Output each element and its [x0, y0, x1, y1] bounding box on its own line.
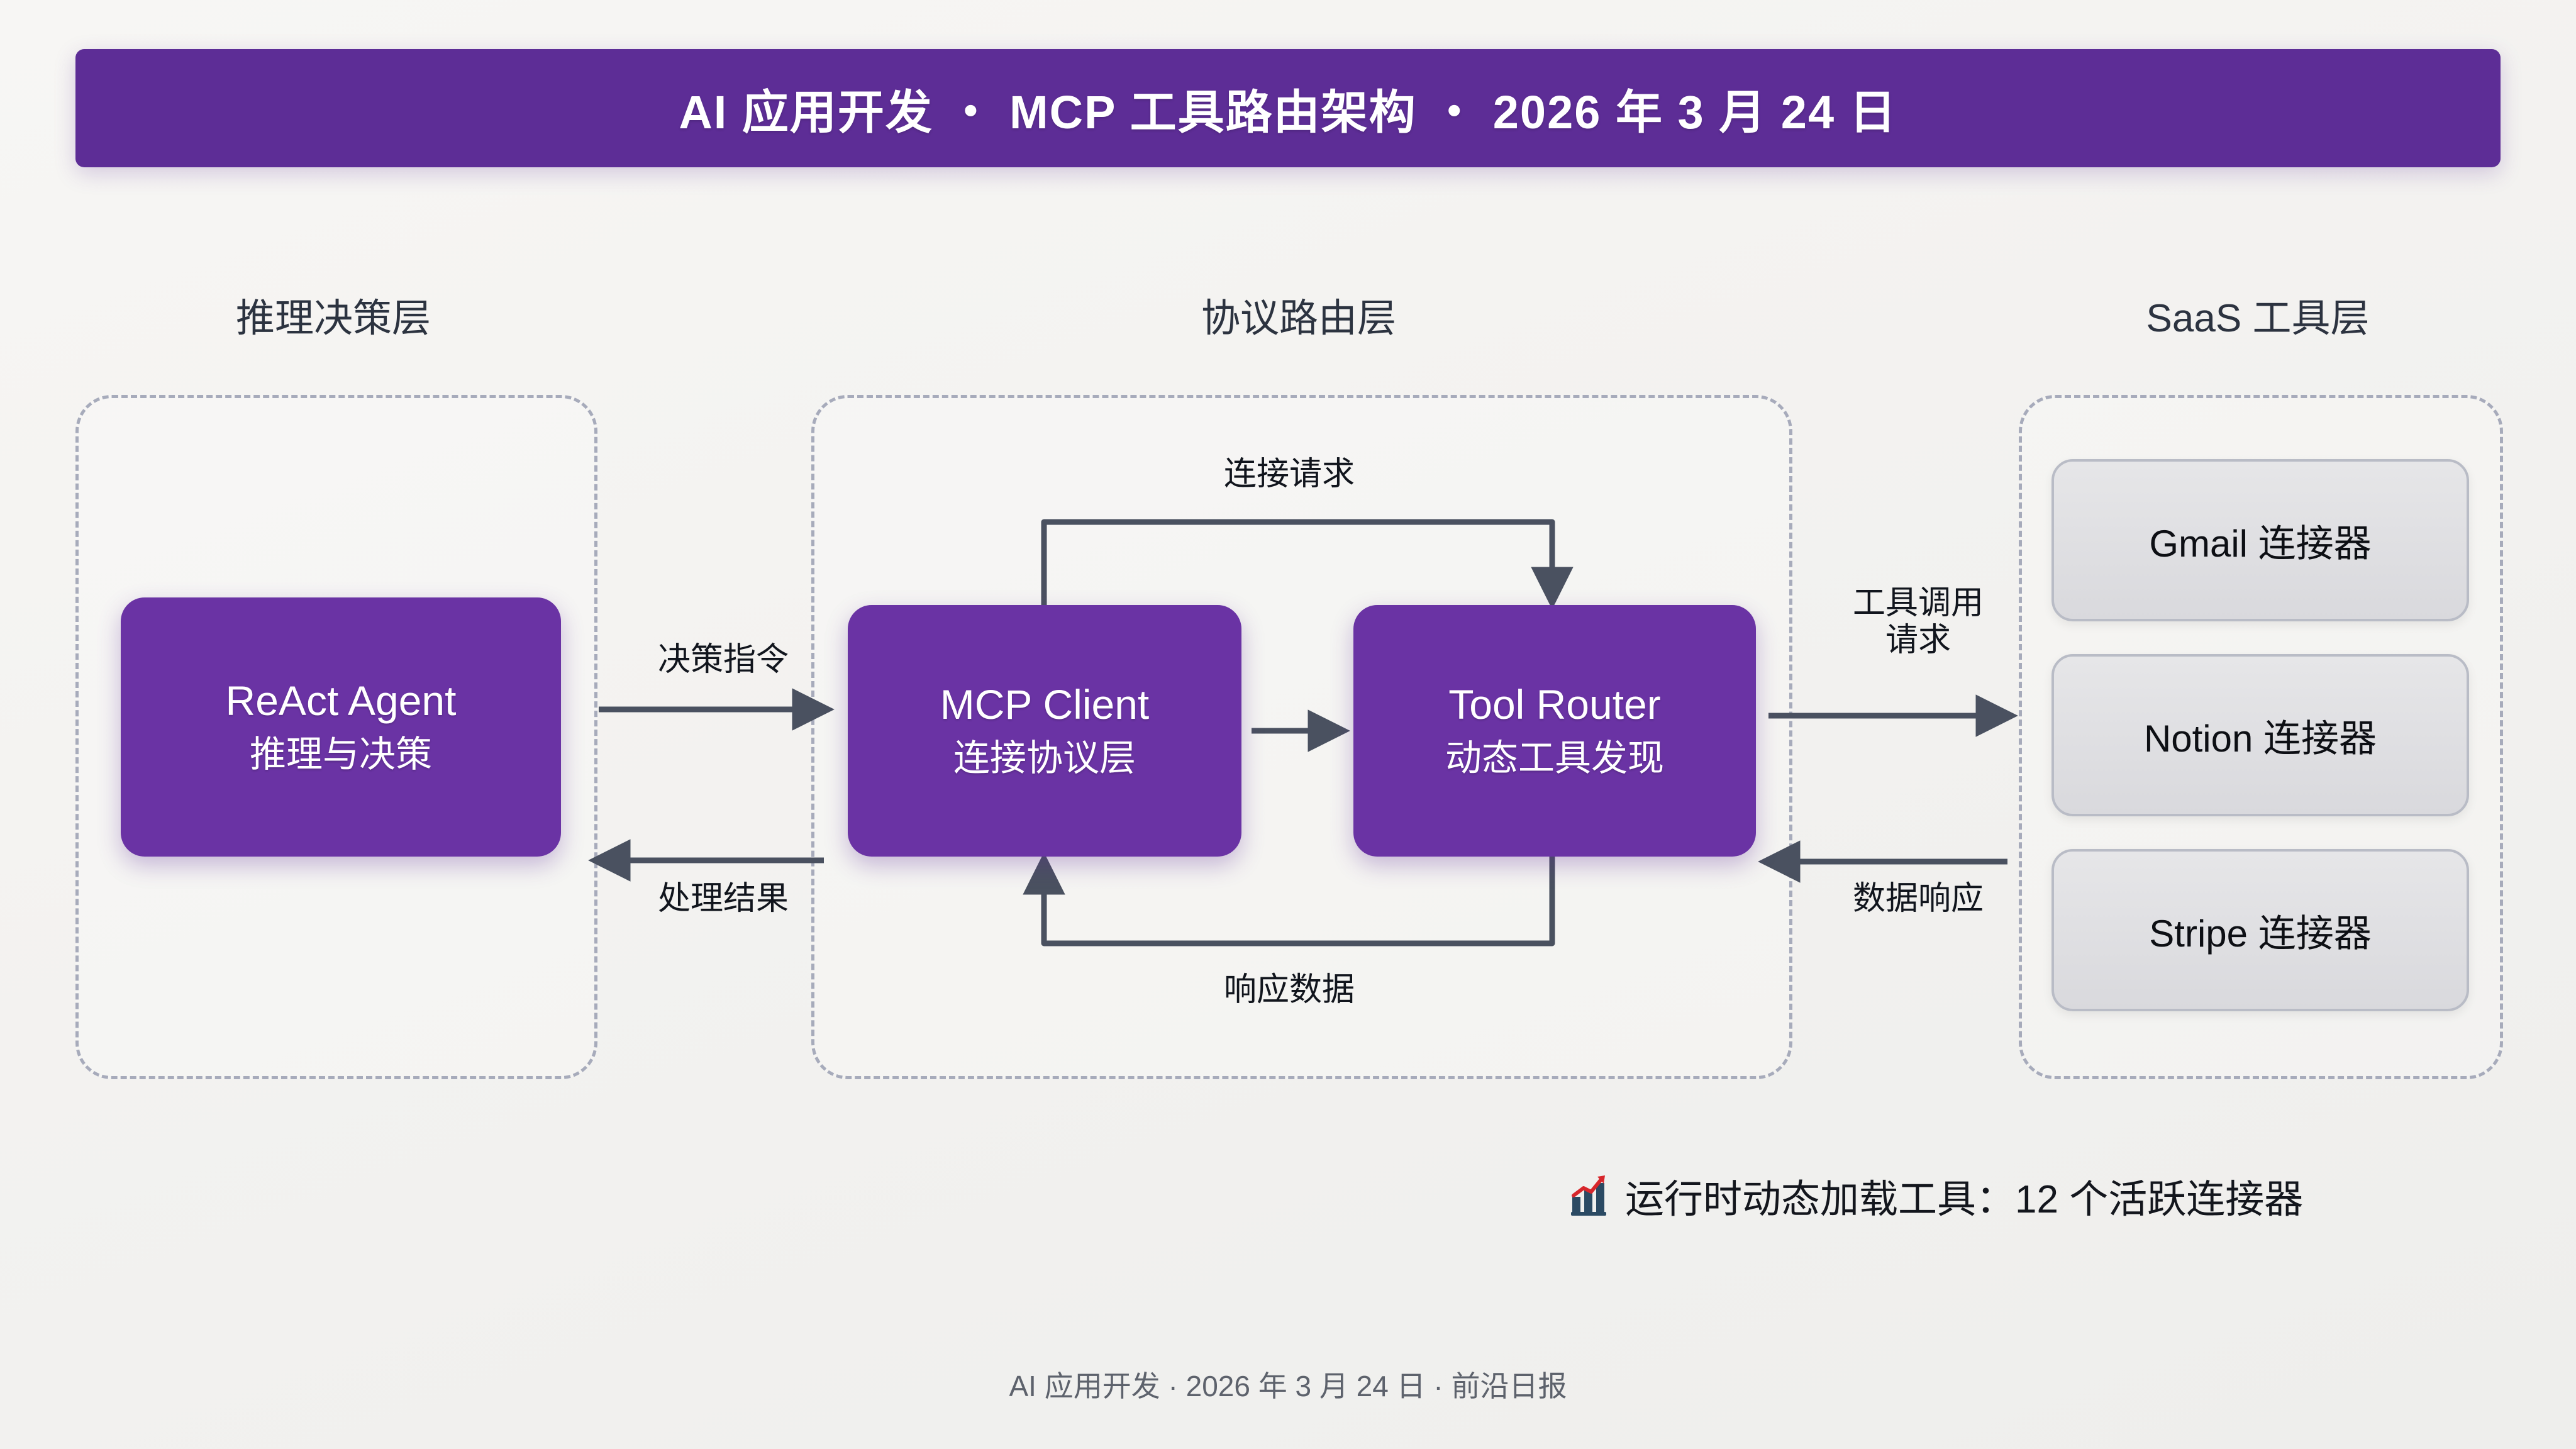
layer-caption-protocol: 协议路由层 — [811, 286, 1786, 343]
connector-card-notion[interactable]: Notion 连接器 — [2051, 654, 2469, 816]
edge-label-process-result: 处理结果 — [591, 880, 855, 918]
edge-label-data-response: 数据响应 — [1792, 880, 2044, 918]
node-mcp-client[interactable]: MCP Client 连接协议层 — [848, 605, 1241, 857]
layer-caption-reasoning: 推理决策层 — [75, 286, 591, 343]
page-title: AI 应用开发 ・ MCP 工具路由架构 ・ 2026 年 3 月 24 日 — [679, 75, 1897, 142]
edge-label-tool-call-request-line1: 工具调用 — [1792, 585, 2044, 622]
edge-label-tool-call-request-line2: 请求 — [1792, 622, 2044, 659]
footer: AI 应用开发 · 2026 年 3 月 24 日 · 前沿日报 — [0, 1363, 2576, 1405]
edge-label-tool-call-request: 工具调用 请求 — [1792, 585, 2044, 660]
connector-card-gmail-label: Gmail 连接器 — [2149, 513, 2371, 568]
node-mcp-client-title: MCP Client — [940, 682, 1150, 728]
status-text: 运行时动态加载工具：12 个活跃连接器 — [1625, 1167, 2303, 1224]
node-tool-router-subtitle: 动态工具发现 — [1445, 737, 1664, 780]
footer-text: AI 应用开发 · 2026 年 3 月 24 日 · 前沿日报 — [1009, 1370, 1567, 1402]
title-banner: AI 应用开发 ・ MCP 工具路由架构 ・ 2026 年 3 月 24 日 — [75, 49, 2501, 167]
node-mcp-client-subtitle: 连接协议层 — [953, 737, 1136, 780]
node-react-agent-subtitle: 推理与决策 — [250, 733, 432, 776]
connector-card-stripe[interactable]: Stripe 连接器 — [2051, 849, 2469, 1011]
node-react-agent-title: ReAct Agent — [226, 678, 457, 724]
bar-chart-icon — [1566, 1173, 1611, 1218]
layer-caption-saas: SaaS 工具层 — [2019, 286, 2497, 343]
edge-label-decision-command: 决策指令 — [591, 641, 855, 679]
edge-label-connect-request: 连接请求 — [1063, 456, 1516, 493]
status-line: 运行时动态加载工具：12 个活跃连接器 — [1566, 1167, 2303, 1224]
node-tool-router[interactable]: Tool Router 动态工具发现 — [1353, 605, 1756, 857]
node-tool-router-title: Tool Router — [1448, 682, 1661, 728]
slide-canvas: AI 应用开发 ・ MCP 工具路由架构 ・ 2026 年 3 月 24 日 推… — [0, 0, 2576, 1449]
connector-card-notion-label: Notion 连接器 — [2144, 708, 2377, 763]
connector-card-gmail[interactable]: Gmail 连接器 — [2051, 459, 2469, 621]
connector-card-stripe-label: Stripe 连接器 — [2149, 903, 2371, 958]
node-react-agent[interactable]: ReAct Agent 推理与决策 — [121, 597, 561, 857]
edge-label-response-data: 响应数据 — [1063, 972, 1516, 1009]
